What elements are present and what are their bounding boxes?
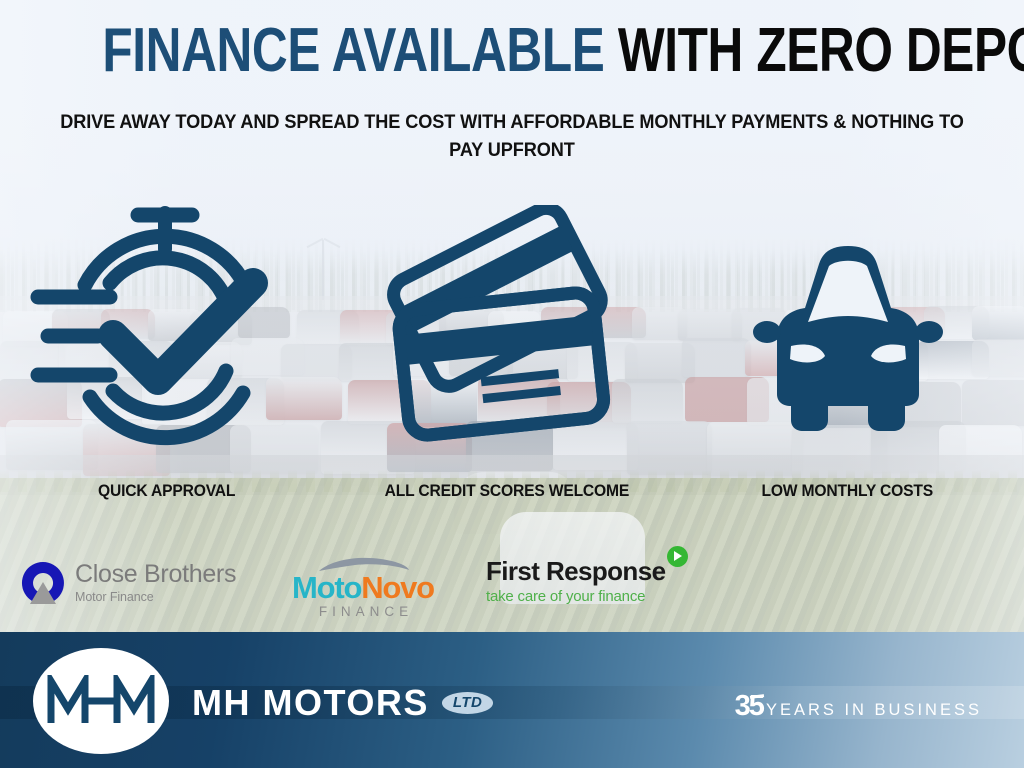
- headline-primary: FINANCE AVAILABLE: [102, 16, 617, 85]
- years-label: YEARS IN BUSINESS: [766, 701, 982, 720]
- lender-close-brothers: Close Brothers Motor Finance: [20, 560, 236, 606]
- credit-cards-icon: [382, 205, 632, 467]
- headline-secondary: WITH ZERO DEPOSIT: [618, 16, 1024, 85]
- green-play-circle-icon: [667, 546, 688, 567]
- ltd-badge: LTD: [442, 692, 494, 714]
- lender-motonovo: MotoNovo FINANCE: [292, 556, 434, 619]
- lender-subtitle: FINANCE: [319, 604, 413, 619]
- feature-quick-approval: QUICK APPROVAL: [0, 205, 337, 501]
- lender-subtitle: take care of your finance: [486, 588, 645, 605]
- lender-subtitle: Motor Finance: [75, 590, 236, 604]
- feature-all-credit-scores: ALL CREDIT SCORES WELCOME: [337, 205, 678, 501]
- years-in-business: 35 YEARS IN BUSINESS: [735, 692, 982, 721]
- years-number: 35: [735, 692, 763, 721]
- feature-low-monthly-costs: LOW MONTHLY COSTS: [677, 242, 1018, 501]
- feature-label: LOW MONTHLY COSTS: [762, 481, 934, 501]
- page-title: FINANCE AVAILABLE WITH ZERO DEPOSIT: [102, 20, 921, 82]
- footer-brand-text: MH MOTORS: [192, 685, 429, 721]
- car-front-icon: [733, 242, 963, 467]
- finance-promo-poster: FINANCE AVAILABLE WITH ZERO DEPOSIT DRIV…: [0, 0, 1024, 768]
- footer-brand: MH MOTORS LTD: [192, 685, 493, 721]
- lender-first-response: First Response take care of your finance: [486, 558, 688, 605]
- lender-name: First Response: [486, 558, 665, 584]
- mhm-monogram-icon: [45, 675, 157, 727]
- feature-row: QUICK APPROVAL ALL CREDIT SCORES: [0, 205, 1024, 501]
- stopwatch-check-icon: [30, 205, 302, 467]
- lender-name: Close Brothers: [75, 562, 236, 587]
- footer-bar: MH MOTORS LTD 35 YEARS IN BUSINESS: [0, 632, 1024, 768]
- mhm-logo: [33, 648, 169, 754]
- circle-mountain-icon: [20, 560, 66, 606]
- lender-name-part2: Novo: [361, 570, 434, 605]
- subheadline: DRIVE AWAY TODAY AND SPREAD THE COST WIT…: [58, 108, 966, 165]
- feature-label: QUICK APPROVAL: [98, 481, 235, 501]
- feature-label: ALL CREDIT SCORES WELCOME: [385, 481, 629, 501]
- lender-logo-row: Close Brothers Motor Finance MotoNovo FI…: [0, 552, 1024, 622]
- lender-name-part1: Moto: [292, 570, 361, 605]
